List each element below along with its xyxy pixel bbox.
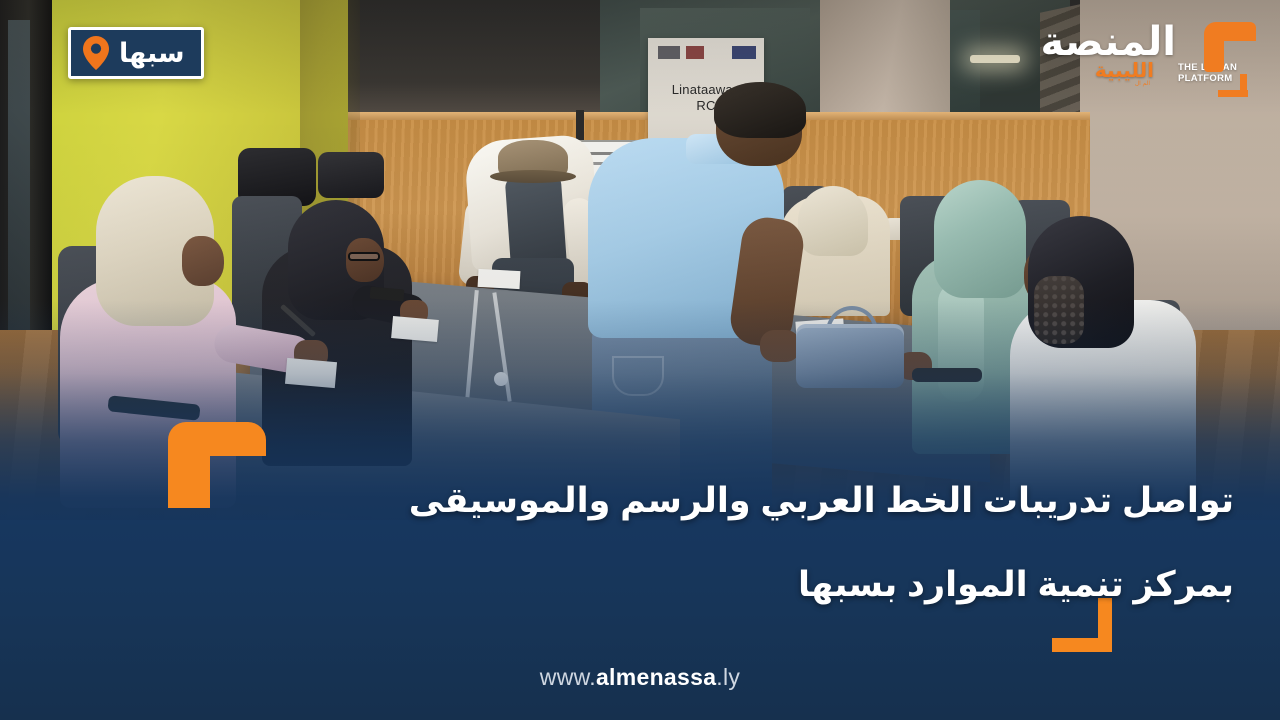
logo-arabic-sub: الليبية xyxy=(1095,60,1154,82)
brand-logo[interactable]: المنصة الليبية الم ال THE LIBYAN PLATFOR… xyxy=(1046,22,1258,96)
website-prefix: www. xyxy=(540,664,596,690)
website-url[interactable]: www.almenassa.ly xyxy=(0,664,1280,691)
location-badge[interactable]: سبها xyxy=(68,27,204,79)
logo-quote-close-icon xyxy=(1218,74,1252,98)
website-tld: .ly xyxy=(716,664,740,690)
map-pin-icon xyxy=(83,36,109,70)
headline-line-2: بمركز تنمية الموارد بسبها xyxy=(234,562,1234,608)
logo-arabic-main: المنصة xyxy=(1040,20,1176,64)
logo-arabic-micro: الم ال xyxy=(1135,80,1150,87)
headline-line-1: تواصل تدريبات الخط العربي والرسم والموسي… xyxy=(234,478,1234,524)
location-label: سبها xyxy=(119,40,185,67)
logo-quote-open-icon xyxy=(1198,22,1256,72)
headline: تواصل تدريبات الخط العربي والرسم والموسي… xyxy=(234,478,1234,608)
social-media-news-card: Linataawan RC xyxy=(0,0,1280,720)
website-name: almenassa xyxy=(596,664,716,690)
